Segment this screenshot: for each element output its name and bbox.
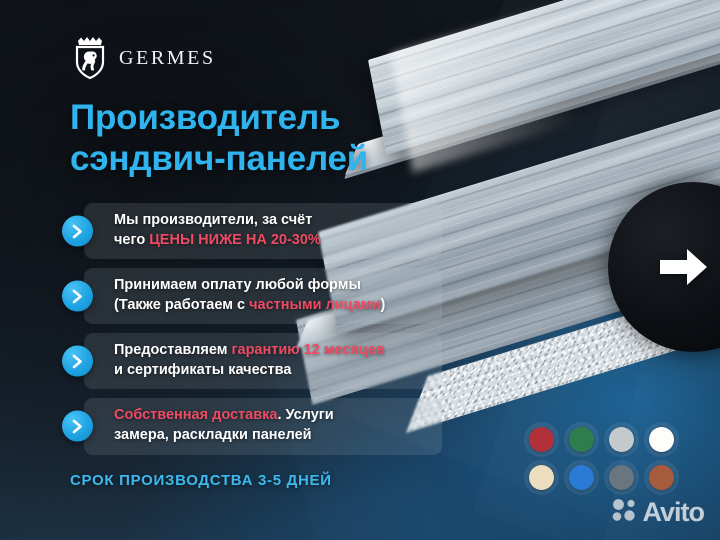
swatch-cell (521, 458, 561, 496)
color-swatch-grid (521, 420, 681, 496)
chevron-right-icon (62, 281, 93, 312)
benefit-highlight: гарантию 12 месяцев (231, 342, 384, 358)
benefit-line-1-post: . Услуги (277, 407, 333, 423)
headline-line-1: Производитель (70, 98, 340, 137)
benefit-line-2-plain: чего (114, 232, 149, 248)
chevron-right-icon (62, 216, 93, 247)
swatch-cell (641, 420, 681, 458)
list-item: Собственная доставка. Услуги замера, рас… (62, 398, 442, 454)
color-swatch-blue (569, 465, 594, 490)
swatch-cell (521, 420, 561, 458)
benefit-highlight: частными лицами (249, 297, 380, 313)
color-swatch-red (529, 427, 554, 452)
benefit-highlight: Собственная доставка (114, 407, 277, 423)
benefit-text: Предоставляем гарантию 12 месяцев и серт… (114, 341, 385, 380)
benefit-line-2: и сертификаты качества (114, 362, 291, 378)
color-swatch-brown (649, 465, 674, 490)
benefit-line-1: Мы производители, за счёт (114, 212, 312, 228)
benefit-highlight: ЦЕНЫ НИЖЕ НА 20-30% (149, 232, 321, 248)
list-item: Принимаем оплату любой формы (Также рабо… (62, 268, 442, 324)
swatch-cell (641, 458, 681, 496)
production-term-note: СРОК ПРОИЗВОДСТВА 3-5 ДНЕЙ (70, 472, 332, 489)
benefit-line-2-post: ) (380, 297, 385, 313)
benefit-line-2-pre: (Также работаем с (114, 297, 249, 313)
swatch-cell (561, 458, 601, 496)
headline-line-2: сэндвич-панелей (70, 139, 490, 180)
benefit-line-1-pre: Предоставляем (114, 342, 231, 358)
benefit-box: Собственная доставка. Услуги замера, рас… (84, 398, 442, 454)
brand-name: GERMES (119, 47, 216, 70)
shield-lion-crown-icon (72, 36, 108, 80)
avito-watermark: Avito (612, 497, 705, 528)
color-swatch-green (569, 427, 594, 452)
benefit-box: Мы производители, за счёт чего ЦЕНЫ НИЖЕ… (84, 203, 442, 259)
benefit-line-2: замера, раскладки панелей (114, 427, 312, 443)
list-item: Мы производители, за счёт чего ЦЕНЫ НИЖЕ… (62, 203, 442, 259)
page-title: Производитель сэндвич-панелей (70, 98, 490, 180)
chevron-right-icon (62, 346, 93, 377)
color-swatch-cream (529, 465, 554, 490)
swatch-cell (601, 420, 641, 458)
swatch-cell (601, 458, 641, 496)
benefit-text: Мы производители, за счёт чего ЦЕНЫ НИЖЕ… (114, 211, 321, 250)
avito-wordmark: Avito (643, 497, 705, 528)
advertisement-banner: GERMES Производитель сэндвич-панелей Мы … (0, 0, 720, 540)
list-item: Предоставляем гарантию 12 месяцев и серт… (62, 333, 442, 389)
arrow-right-icon (660, 247, 708, 287)
color-swatch-light-gray (609, 427, 634, 452)
benefit-text: Собственная доставка. Услуги замера, рас… (114, 406, 334, 445)
color-swatch-white (649, 427, 674, 452)
avito-dots-icon (612, 498, 638, 527)
chevron-right-icon (62, 411, 93, 442)
benefit-box: Предоставляем гарантию 12 месяцев и серт… (84, 333, 442, 389)
swatch-cell (561, 420, 601, 458)
brand-logo: GERMES (72, 36, 216, 80)
color-swatch-dark-gray (609, 465, 634, 490)
benefit-box: Принимаем оплату любой формы (Также рабо… (84, 268, 442, 324)
benefits-list: Мы производители, за счёт чего ЦЕНЫ НИЖЕ… (62, 203, 442, 464)
benefit-text: Принимаем оплату любой формы (Также рабо… (114, 276, 385, 315)
benefit-line-1: Принимаем оплату любой формы (114, 277, 361, 293)
